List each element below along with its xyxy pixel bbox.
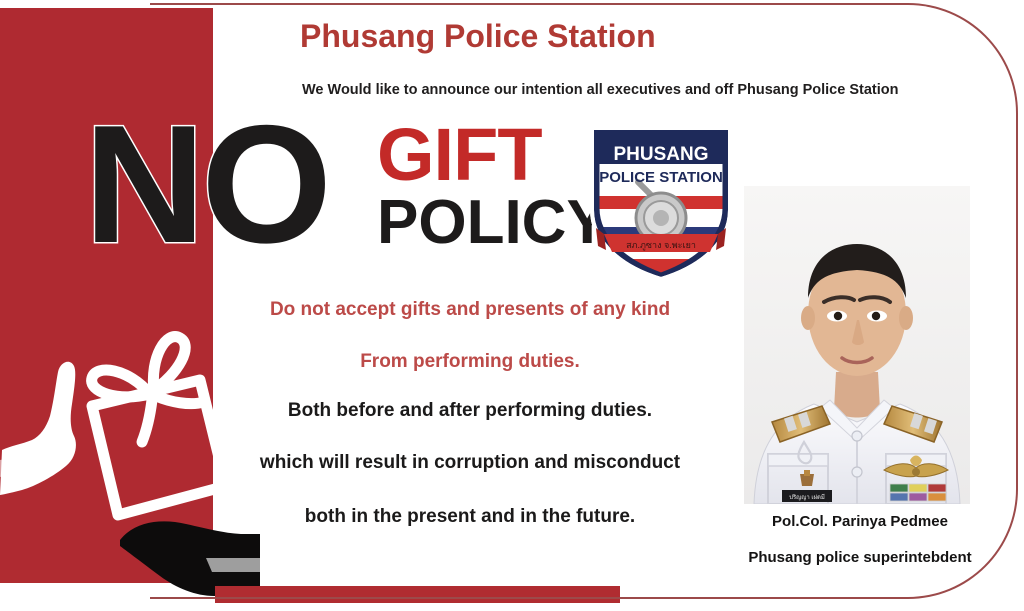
headline-gift: GIFT bbox=[377, 118, 542, 192]
page-title: Phusang Police Station bbox=[300, 18, 656, 55]
bottom-red-bar-left bbox=[0, 570, 120, 583]
bottom-red-bar bbox=[215, 586, 620, 603]
announcement-subtitle: We Would like to announce our intention … bbox=[302, 82, 898, 98]
badge-top-text: PHUSANG bbox=[613, 144, 708, 165]
phusang-police-badge-icon: PHUSANG POLICE STATION สภ.ภูซาง จ.พะเยา bbox=[586, 122, 736, 280]
badge-mid-text: POLICE STATION bbox=[599, 169, 723, 186]
svg-text:ปริญญา เผ่ดมี: ปริญญา เผ่ดมี bbox=[789, 493, 825, 501]
message-line-4: which will result in corruption and misc… bbox=[120, 452, 820, 474]
portrait-caption-name: Pol.Col. Parinya Pedmee bbox=[700, 513, 1020, 530]
offering-hand-icon bbox=[120, 521, 260, 596]
message-line-2: From performing duties. bbox=[120, 351, 820, 373]
headline-no: NO bbox=[84, 100, 328, 268]
message-line-3: Both before and after performing duties. bbox=[120, 400, 820, 422]
superintendent-portrait: ปริญญา เผ่ดมี bbox=[744, 186, 970, 504]
no-gift-policy-poster: Phusang Police Station We Would like to … bbox=[0, 0, 1024, 611]
headline-policy: POLICY bbox=[377, 192, 608, 254]
badge-ribbon-text: สภ.ภูซาง จ.พะเยา bbox=[626, 240, 696, 251]
message-line-1: Do not accept gifts and presents of any … bbox=[120, 299, 820, 321]
refusing-hand-icon bbox=[0, 362, 76, 495]
portrait-caption-role: Phusang police superintebdent bbox=[700, 549, 1020, 566]
